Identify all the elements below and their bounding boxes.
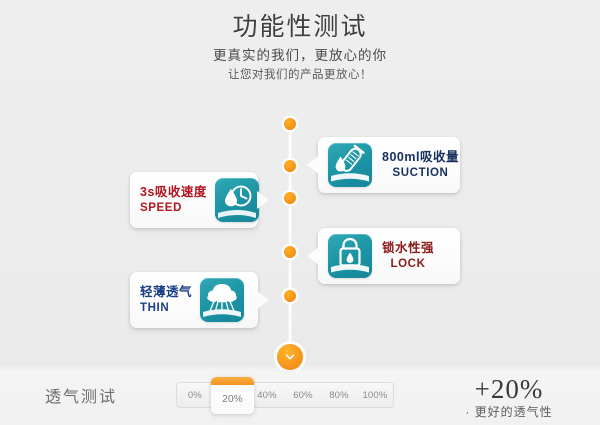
page-subtitle-secondary: 让您对我们的产品更放心！ [0,66,600,84]
card-suction-text: 800ml吸收量 SUCTION [382,150,459,180]
timeline-dot [284,118,296,130]
card-lock-text: 锁水性强 LOCK [382,241,434,271]
card-lock-title-en: LOCK [382,257,434,271]
timeline [288,118,292,358]
breathability-test-bar: 透气测试 0% 40% 60% 80% 100% 20% +20% · 更好的透… [0,370,600,425]
breathability-test-label: 透气测试 [45,383,117,407]
result-block: +20% · 更好的透气性 [444,374,574,421]
card-thin[interactable]: 轻薄透气 THIN [130,272,258,328]
card-speed-title-cn: 3s吸收速度 [140,185,207,201]
header: 功能性测试 更真实的我们，更放心的你 让您对我们的产品更放心！ [0,10,600,84]
card-lock-title-cn: 锁水性强 [382,241,434,257]
functional-test-infographic: 功能性测试 更真实的我们，更放心的你 让您对我们的产品更放心！ 3s吸收速度 S… [0,0,600,425]
tree-breathable-icon [200,278,244,322]
scale-tick-active-20[interactable]: 20% [211,377,254,414]
timeline-line [289,122,291,354]
timeline-end-marker[interactable] [277,344,303,370]
card-speed[interactable]: 3s吸收速度 SPEED [130,172,258,228]
card-thin-tail [257,291,269,309]
result-note: · 更好的透气性 [444,404,574,421]
card-thin-title-en: THIN [140,301,192,315]
page-title: 功能性测试 [0,10,600,44]
timeline-dot [284,290,296,302]
card-suction-title-cn: 800ml吸收量 [382,150,459,166]
card-speed-text: 3s吸收速度 SPEED [140,185,207,215]
scale-tick-60[interactable]: 60% [285,390,321,401]
card-lock[interactable]: 锁水性强 LOCK [318,228,460,284]
card-thin-text: 轻薄透气 THIN [140,285,192,315]
scale-tick-40[interactable]: 40% [249,390,285,401]
active-tick-bar [211,377,254,385]
page-subtitle: 更真实的我们，更放心的你 [0,45,600,66]
scale-tick-0[interactable]: 0% [177,390,213,401]
active-tick-label: 20% [222,394,243,405]
card-speed-title-en: SPEED [140,201,207,215]
card-suction-tail [307,156,319,174]
scale-tick-100[interactable]: 100% [357,390,393,401]
result-value: +20% [444,374,574,404]
card-lock-tail [307,247,319,265]
timeline-dot [284,246,296,258]
chevron-down-icon [283,350,297,364]
scale-tick-80[interactable]: 80% [321,390,357,401]
padlock-droplet-icon [328,234,372,278]
card-speed-tail [257,191,269,209]
test-tube-icon [328,143,372,187]
card-suction-title-en: SUCTION [382,166,459,180]
clock-droplet-icon [215,178,259,222]
card-thin-title-cn: 轻薄透气 [140,285,192,301]
timeline-dot [284,160,296,172]
percentage-scale[interactable]: 0% 40% 60% 80% 100% 20% [176,382,394,408]
card-suction[interactable]: 800ml吸收量 SUCTION [318,137,460,193]
timeline-dot [284,192,296,204]
